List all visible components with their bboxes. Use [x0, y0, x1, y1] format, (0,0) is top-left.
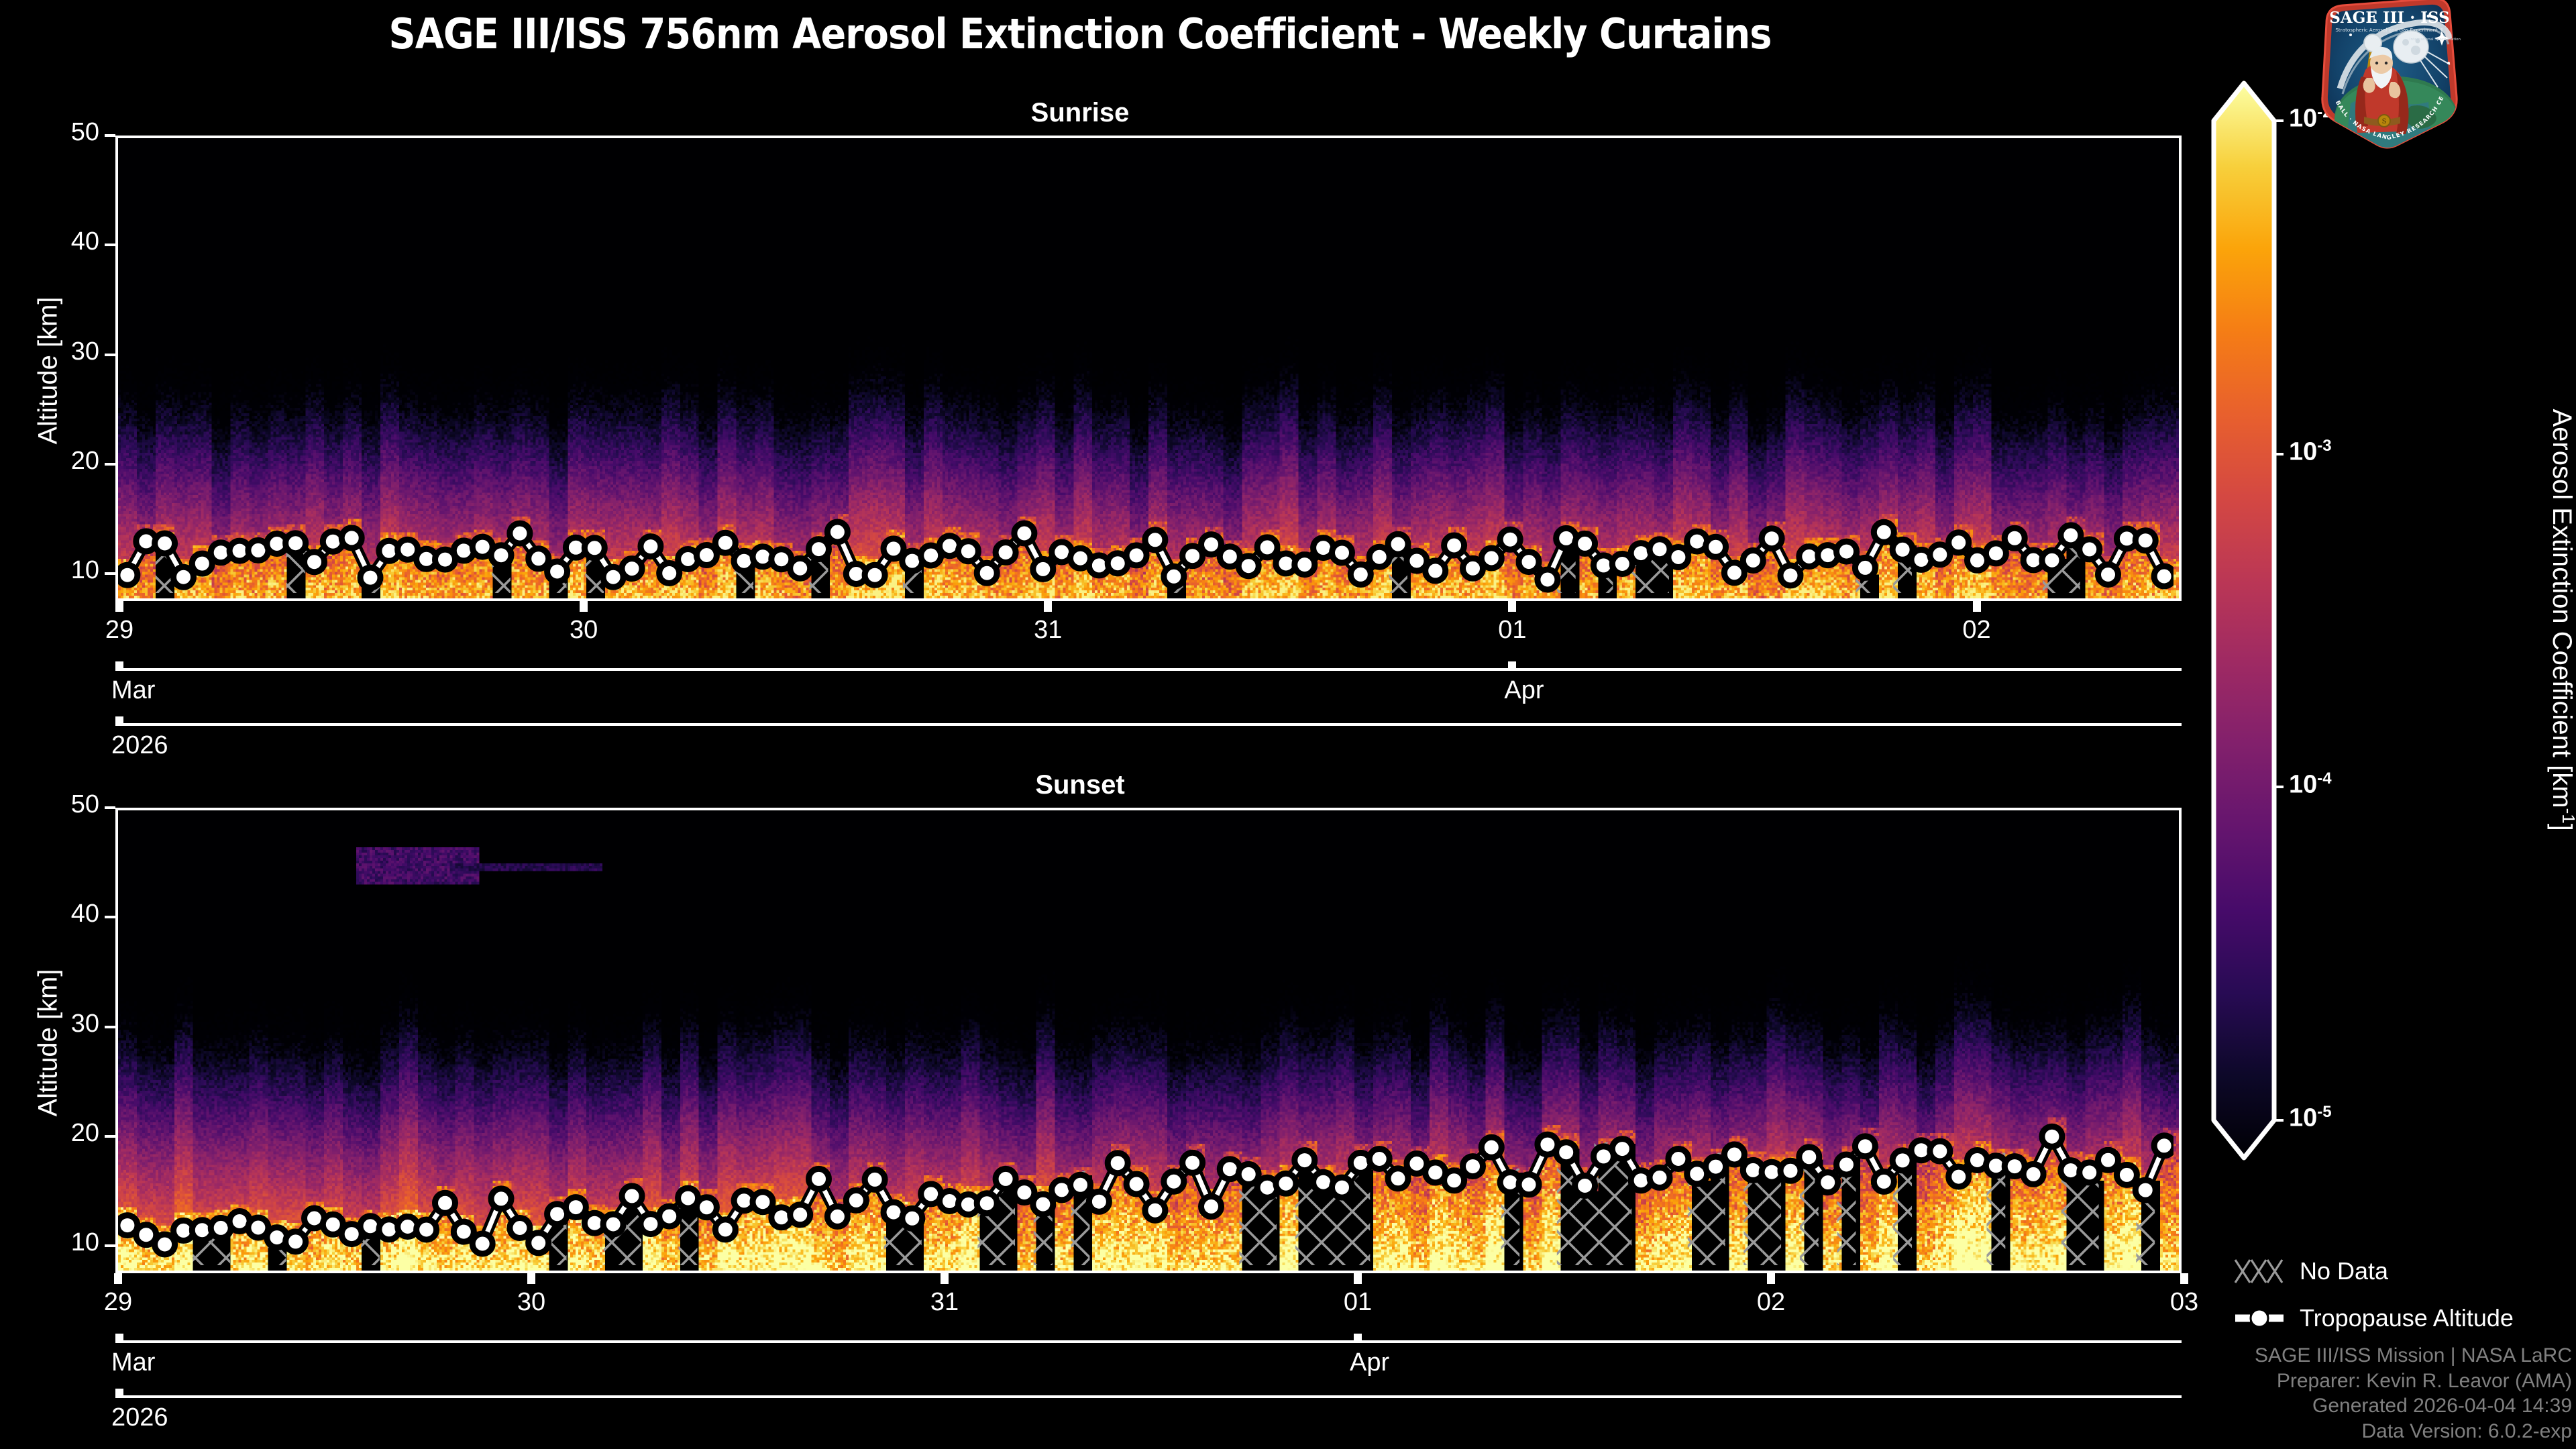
- tropopause-marker: [2080, 539, 2100, 559]
- tropopause-marker: [659, 1206, 680, 1226]
- y-tick-mark-sunrise-40: [105, 244, 115, 246]
- tropopause-marker: [1874, 1171, 1894, 1191]
- tropopause-marker: [1500, 529, 1520, 549]
- logo-title: SAGE III · ISS: [2329, 9, 2449, 27]
- y-tick-mark-sunset-50: [105, 806, 115, 809]
- y-tick-mark-sunrise-50: [105, 134, 115, 137]
- tropopause-marker: [417, 1220, 437, 1240]
- tropopause-marker: [1145, 530, 1165, 550]
- year-axis-rule-sunrise: [115, 723, 2182, 726]
- tropopause-marker: [977, 1193, 997, 1214]
- overlay-sunrise: [118, 138, 2173, 593]
- tropopause-marker: [1108, 1153, 1128, 1173]
- tropopause-marker: [790, 558, 810, 578]
- tropopause-marker: [958, 541, 978, 561]
- tropopause-marker: [1033, 1194, 1053, 1214]
- tropopause-marker: [435, 1193, 455, 1213]
- tropopause-marker: [715, 533, 735, 553]
- x-tick-label-sunrise-30: 30: [570, 616, 598, 645]
- tropopause-marker: [1668, 1149, 1688, 1169]
- y-tick-mark-sunset-20: [105, 1135, 115, 1138]
- tropopause-marker: [1799, 1147, 1819, 1167]
- tropopause-marker: [1724, 1144, 1744, 1165]
- tropopause-marker: [1668, 547, 1688, 568]
- tropopause-marker: [155, 533, 175, 553]
- tropopause-marker: [1855, 557, 1875, 578]
- logo-subtitle: Stratospheric Aerosol and Gas Experiment…: [2335, 27, 2443, 33]
- tropopause-marker: [1575, 1176, 1595, 1196]
- tropopause-marker: [1257, 537, 1277, 557]
- tropopause-marker: [1650, 1167, 1670, 1187]
- y-tick-label-sunrise-10: 10: [39, 556, 99, 585]
- colorbar-tick-label-1: 10-3: [2289, 437, 2332, 467]
- tropopause-marker: [1164, 1171, 1184, 1191]
- tropopause-marker: [174, 567, 194, 587]
- colorbar-axis-label: Aerosol Extinction Coefficient [km-1]: [2546, 318, 2576, 922]
- x-tick-mark-sunrise-02: [1973, 601, 1981, 612]
- colorbar-label-text: Aerosol Extinction Coefficient [km: [2547, 409, 2576, 808]
- tropopause-marker: [2135, 531, 2155, 551]
- tropopause-marker: [827, 522, 847, 542]
- tropopause-marker: [1332, 543, 1352, 563]
- y-tick-mark-sunset-10: [105, 1244, 115, 1247]
- tropopause-marker: [1762, 529, 1782, 549]
- tropopause-marker: [809, 539, 829, 559]
- tropopause-marker: [1426, 561, 1446, 581]
- month-axis-rule-sunset: [115, 1340, 2182, 1343]
- tropopause-marker: [2154, 566, 2173, 586]
- tropopause-marker: [510, 523, 530, 543]
- tropopause-marker: [1855, 1136, 1875, 1157]
- sage-iii-iss-mission-patch-logo: S BALL · NASA LANGLEY RESEARCH CENTER · …: [2310, 0, 2465, 150]
- year-label-sunrise: 2026: [111, 731, 168, 760]
- tropopause-line-icon: [2234, 1303, 2285, 1334]
- colorbar-tick-label-3: 10-5: [2289, 1103, 2332, 1133]
- y-tick-label-sunset-30: 30: [39, 1010, 99, 1038]
- tropopause-marker: [1238, 1164, 1258, 1184]
- cb-base: 10: [2289, 437, 2317, 466]
- tropopause-marker: [341, 528, 362, 548]
- y-tick-label-sunrise-20: 20: [39, 447, 99, 476]
- y-tick-mark-sunrise-20: [105, 463, 115, 466]
- tropopause-marker: [659, 563, 680, 584]
- tropopause-marker: [1930, 1141, 1950, 1161]
- y-tick-mark-sunset-30: [105, 1026, 115, 1028]
- year-label-sunset: 2026: [111, 1403, 168, 1432]
- tropopause-marker: [2023, 1164, 2043, 1184]
- tropopause-marker: [1388, 1169, 1408, 1189]
- x-tick-mark-sunset-03: [2180, 1273, 2188, 1284]
- x-tick-mark-sunset-30: [527, 1273, 535, 1284]
- tropopause-marker: [996, 1169, 1016, 1189]
- tropopause-marker: [622, 1186, 642, 1206]
- y-tick-mark-sunrise-30: [105, 354, 115, 356]
- tropopause-marker: [1276, 1173, 1296, 1193]
- tropopause-marker: [2042, 550, 2062, 570]
- tropopause-marker: [1575, 533, 1595, 553]
- y-tick-label-sunset-40: 40: [39, 900, 99, 928]
- tropopause-marker: [1556, 1142, 1576, 1163]
- tropopause-marker: [1183, 1152, 1203, 1173]
- tropopause-marker: [1949, 1167, 1969, 1187]
- year-tick-mark-sunrise: [115, 716, 123, 726]
- tropopause-marker: [547, 561, 568, 582]
- figure-canvas: SAGE III/ISS 756nm Aerosol Extinction Co…: [0, 0, 2576, 1449]
- tropopause-marker: [1780, 1161, 1801, 1181]
- colorbar-label-tail: ]: [2547, 824, 2576, 831]
- tropopause-marker: [865, 1169, 885, 1189]
- tropopause-marker: [1986, 543, 2006, 563]
- x-tick-mark-sunrise-31: [1044, 601, 1052, 612]
- tropopause-marker: [977, 563, 997, 583]
- colorbar-tick-mark-1: [2274, 453, 2284, 455]
- tropopause-marker: [1295, 1150, 1315, 1171]
- x-tick-mark-sunrise-01: [1508, 601, 1516, 612]
- tropopause-marker: [1837, 1155, 1857, 1175]
- tropopause-marker: [286, 1232, 306, 1252]
- tropopause-marker: [2154, 1136, 2173, 1156]
- tropopause-marker: [603, 1214, 623, 1234]
- x-tick-mark-sunset-01: [1354, 1273, 1362, 1284]
- tropopause-marker: [1089, 1191, 1109, 1212]
- tropopause-marker: [1780, 566, 1801, 586]
- tropopause-marker: [1538, 570, 1558, 590]
- tropopause-marker: [809, 1169, 829, 1189]
- tropopause-marker: [305, 552, 325, 572]
- x-tick-mark-sunset-29: [114, 1273, 122, 1284]
- colorbar-tick-mark-0: [2274, 119, 2284, 122]
- y-axis-label-sunrise: Altitude [km]: [34, 284, 64, 458]
- overlay-sunset: [118, 810, 2173, 1265]
- month-label-sunrise-mar: Mar: [111, 676, 155, 705]
- tropopause-marker: [286, 533, 306, 553]
- cb-exponent: -3: [2317, 437, 2331, 455]
- tropopause-marker: [1332, 1177, 1352, 1197]
- footer-credits: SAGE III/ISS Mission | NASA LaRC Prepare…: [2255, 1343, 2572, 1444]
- tropopause-marker: [491, 1189, 511, 1209]
- x-tick-label-sunset-02: 02: [1757, 1288, 1785, 1317]
- tropopause-marker: [1874, 522, 1894, 542]
- x-tick-label-sunrise-01: 01: [1498, 616, 1526, 645]
- colorbar-label-exponent: -1: [2559, 808, 2576, 824]
- x-tick-mark-sunset-31: [941, 1273, 949, 1284]
- tropopause-marker: [1238, 556, 1258, 576]
- tropopause-marker: [118, 565, 138, 585]
- footer-line-version: Data Version: 6.0.2-exp: [2255, 1419, 2572, 1444]
- x-tick-label-sunset-29: 29: [104, 1288, 132, 1317]
- tropopause-marker: [2098, 1150, 2118, 1170]
- tropopause-marker: [696, 1197, 716, 1218]
- legend: No Data Tropopause Altitude: [2234, 1254, 2569, 1348]
- y-tick-label-sunset-10: 10: [39, 1228, 99, 1257]
- month-label-sunset-mar: Mar: [111, 1348, 155, 1377]
- tropopause-marker: [1519, 1175, 1539, 1195]
- plot-area-sunset[interactable]: [115, 808, 2182, 1273]
- cb-exponent: -4: [2317, 769, 2331, 788]
- legend-label-no-data: No Data: [2300, 1257, 2388, 1285]
- colorbar-tick-mark-2: [2274, 786, 2284, 788]
- tropopause-marker: [1519, 552, 1539, 572]
- x-tick-label-sunset-31: 31: [930, 1288, 959, 1317]
- tropopause-marker: [1612, 1139, 1632, 1159]
- panel-title-sunset: Sunset: [0, 770, 2160, 800]
- footer-line-mission: SAGE III/ISS Mission | NASA LaRC: [2255, 1343, 2572, 1368]
- tropopause-marker: [1201, 1197, 1222, 1217]
- y-tick-label-sunrise-30: 30: [39, 337, 99, 366]
- tropopause-marker: [753, 1192, 773, 1212]
- y-tick-mark-sunrise-10: [105, 572, 115, 575]
- legend-item-tropopause: Tropopause Altitude: [2234, 1301, 2569, 1335]
- cb-exponent: -5: [2317, 1103, 2331, 1121]
- y-tick-mark-sunset-40: [105, 916, 115, 918]
- no-data-hatch-block: [2080, 1177, 2099, 1265]
- y-tick-label-sunset-20: 20: [39, 1119, 99, 1148]
- tropopause-marker: [510, 1218, 530, 1238]
- tropopause-marker: [566, 1197, 586, 1218]
- legend-item-no-data: No Data: [2234, 1254, 2569, 1288]
- tropopause-marker: [1818, 1173, 1838, 1193]
- tropopause-marker: [622, 559, 642, 579]
- tropopause-marker: [902, 1208, 922, 1228]
- tropopause-marker: [1014, 523, 1034, 543]
- tropopause-marker: [715, 1220, 735, 1240]
- tropopause-marker: [491, 545, 511, 566]
- plot-area-sunrise[interactable]: [115, 136, 2182, 601]
- tropopause-marker: [1444, 535, 1464, 555]
- tropopause-marker: [1481, 548, 1501, 568]
- tropopause-marker: [1388, 534, 1408, 554]
- year-tick-mark-sunset: [115, 1389, 123, 1398]
- tropopause-marker: [1164, 566, 1184, 586]
- tropopause-marker: [827, 1206, 847, 1226]
- cb-base: 10: [2289, 1104, 2317, 1132]
- tropopause-marker: [2135, 1180, 2155, 1200]
- y-tick-label-sunset-50: 50: [39, 790, 99, 819]
- tropopause-marker: [1463, 1157, 1483, 1177]
- tropopause-marker: [1145, 1200, 1165, 1220]
- footer-line-preparer: Preparer: Kevin R. Leavor (AMA): [2255, 1368, 2572, 1394]
- svg-text:S: S: [2382, 118, 2387, 125]
- month-tick-mark-sunset-apr: [1354, 1334, 1362, 1343]
- x-tick-label-sunrise-29: 29: [105, 616, 133, 645]
- month-label-sunrise-apr: Apr: [1504, 676, 1544, 705]
- logo-station-text: International Space Station: [2410, 38, 2461, 42]
- y-axis-label-sunset: Altitude [km]: [34, 956, 64, 1130]
- year-axis-rule-sunset: [115, 1395, 2182, 1398]
- hatch-no-data-icon: [2234, 1256, 2285, 1287]
- tropopause-marker: [529, 1233, 549, 1253]
- month-label-sunset-apr: Apr: [1350, 1348, 1389, 1377]
- x-tick-label-sunset-30: 30: [517, 1288, 545, 1317]
- tropopause-marker: [1071, 1175, 1091, 1195]
- tropopause-marker: [1481, 1137, 1501, 1157]
- tropopause-marker: [1369, 1149, 1389, 1169]
- tropopause-marker: [1126, 545, 1146, 566]
- tropopause-marker: [790, 1205, 810, 1225]
- x-tick-mark-sunset-02: [1767, 1273, 1775, 1284]
- x-tick-label-sunset-03: 03: [2170, 1288, 2198, 1317]
- tropopause-marker: [2042, 1126, 2062, 1146]
- panel-title-sunrise: Sunrise: [0, 98, 2160, 128]
- x-tick-label-sunrise-31: 31: [1034, 616, 1062, 645]
- tropopause-marker: [1706, 537, 1726, 557]
- tropopause-marker: [2004, 528, 2025, 548]
- x-tick-label-sunset-01: 01: [1344, 1288, 1372, 1317]
- tropopause-marker: [584, 538, 604, 558]
- tropopause-marker: [865, 565, 885, 585]
- tropopause-marker: [1949, 533, 1969, 553]
- colorbar-gradient: [2207, 74, 2288, 1167]
- tropopause-marker: [2098, 565, 2118, 585]
- tropopause-marker: [1295, 555, 1315, 575]
- tropopause-marker: [2116, 1165, 2137, 1185]
- month-axis-rule-sunrise: [115, 668, 2182, 671]
- tropopause-marker: [846, 1190, 866, 1210]
- tropopause-marker: [360, 568, 380, 588]
- tropopause-marker: [155, 1234, 175, 1254]
- tropopause-marker: [1126, 1174, 1146, 1194]
- footer-line-generated: Generated 2026-04-04 14:39: [2255, 1393, 2572, 1419]
- y-tick-label-sunrise-50: 50: [39, 118, 99, 147]
- colorbar[interactable]: [2207, 74, 2288, 1167]
- x-tick-label-sunrise-02: 02: [1962, 616, 1990, 645]
- tropopause-marker: [1033, 559, 1053, 579]
- tropopause-marker: [1444, 1171, 1464, 1191]
- month-tick-mark-sunrise-mar: [115, 661, 123, 671]
- tropopause-marker: [1350, 564, 1371, 584]
- y-tick-label-sunrise-40: 40: [39, 227, 99, 256]
- page-title: SAGE III/ISS 756nm Aerosol Extinction Co…: [0, 9, 2160, 58]
- x-tick-mark-sunrise-29: [115, 601, 123, 612]
- tropopause-marker: [641, 537, 661, 557]
- tropopause-marker: [472, 1234, 492, 1254]
- no-data-hatch-block: [1688, 1177, 1707, 1265]
- month-tick-mark-sunset-mar: [115, 1334, 123, 1343]
- cb-base: 10: [2289, 771, 2317, 799]
- month-tick-mark-sunrise-apr: [1508, 661, 1516, 671]
- tropopause-marker: [1837, 541, 1857, 561]
- x-tick-mark-sunrise-30: [580, 601, 588, 612]
- tropopause-marker: [996, 543, 1016, 563]
- colorbar-tick-mark-3: [2274, 1119, 2284, 1122]
- colorbar-tick-label-2: 10-4: [2289, 769, 2332, 800]
- tropopause-marker: [1743, 551, 1763, 571]
- legend-label-tropopause: Tropopause Altitude: [2300, 1304, 2514, 1332]
- tropopause-marker: [2061, 525, 2081, 545]
